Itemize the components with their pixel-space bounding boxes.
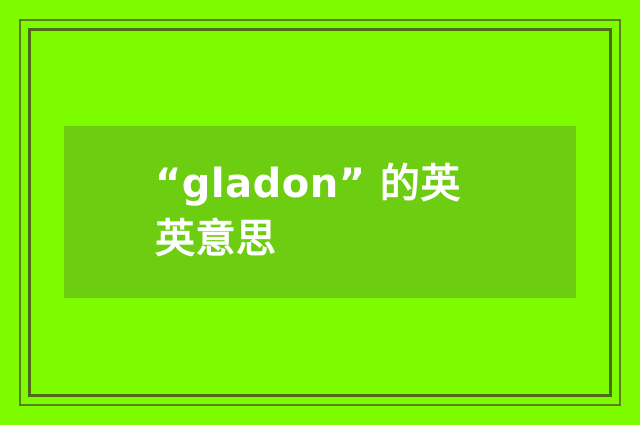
headline-text: “gladon” 的英英意思 xyxy=(155,157,485,267)
banner-canvas: “gladon” 的英英意思 xyxy=(0,0,640,425)
content-panel: “gladon” 的英英意思 xyxy=(64,126,576,298)
